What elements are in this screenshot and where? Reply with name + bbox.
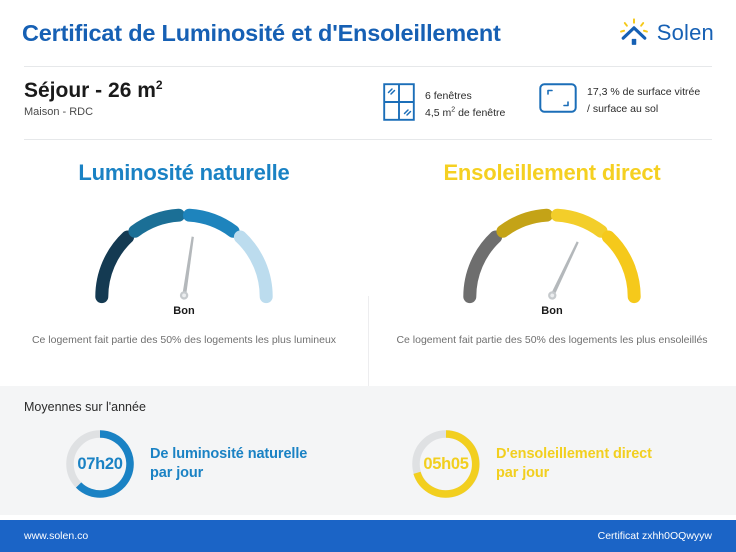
donut-ensoleillement-value: 05h05 xyxy=(410,428,482,500)
gauge-lum-needle xyxy=(179,236,196,300)
brand-name: Solen xyxy=(657,20,714,46)
averages-title: Moyennes sur l'année xyxy=(24,400,146,414)
window-grid-icon xyxy=(383,83,415,126)
gauge-lum-segment-3 xyxy=(189,215,233,231)
gauge-ens-needle xyxy=(547,240,581,301)
glazed-surface-icon xyxy=(539,83,577,118)
page-title: Certificat de Luminosité et d'Ensoleille… xyxy=(22,20,501,47)
gauge-lum-segment-4 xyxy=(240,237,266,297)
stat-windows-line2: 4,5 m2 de fenêtre xyxy=(425,105,505,121)
gauge-lum-segment-2 xyxy=(135,215,179,231)
page-header: Certificat de Luminosité et d'Ensoleille… xyxy=(0,0,736,66)
average-luminosite-label: De luminosité naturelle par jour xyxy=(150,445,307,483)
gauge-ensoleillement-rating: Bon xyxy=(368,305,736,317)
average-luminosite: 07h20 De luminosité naturelle par jour xyxy=(64,428,307,500)
panel-ensoleillement: Ensoleillement direct Bon xyxy=(368,140,736,380)
certificate-page: Certificat de Luminosité et d'Ensoleille… xyxy=(0,0,736,552)
panel-luminosite-heading: Luminosité naturelle xyxy=(0,160,368,186)
gauge-luminosite xyxy=(79,192,289,302)
stat-windows: 6 fenêtres 4,5 m2 de fenêtre xyxy=(383,83,505,126)
donut-ensoleillement: 05h05 xyxy=(410,428,482,500)
stat-windows-area-post: de fenêtre xyxy=(455,107,505,119)
panel-luminosite: Luminosité naturelle Bon xyxy=(0,140,368,380)
average-ensoleillement-label: D'ensoleillement direct par jour xyxy=(496,445,652,483)
stat-glazed-line1: 17,3 % de surface vitrée xyxy=(587,84,700,100)
sun-house-icon xyxy=(619,18,649,48)
gauge-lum-segment-1 xyxy=(102,237,128,297)
brand-logo: Solen xyxy=(619,18,714,48)
stat-glazed-line2: / surface au sol xyxy=(587,101,700,117)
donut-luminosite: 07h20 xyxy=(64,428,136,500)
room-title: Séjour - 26 m2 xyxy=(24,79,163,102)
average-luminosite-label-line1: De luminosité naturelle xyxy=(150,445,307,464)
room-title-superscript: 2 xyxy=(156,78,163,92)
stat-windows-line1: 6 fenêtres xyxy=(425,88,505,104)
average-ensoleillement-label-line2: par jour xyxy=(496,464,652,483)
donut-luminosite-value: 07h20 xyxy=(64,428,136,500)
page-footer: www.solen.co Certificat zxhh0OQwyyw xyxy=(0,520,736,552)
gauge-ens-segment-1 xyxy=(470,237,496,297)
gauge-ensoleillement-description: Ce logement fait partie des 50% des loge… xyxy=(392,332,712,348)
footer-certificate-id: Certificat zxhh0OQwyyw xyxy=(598,530,712,542)
gauge-luminosite-rating: Bon xyxy=(0,305,368,317)
footer-website[interactable]: www.solen.co xyxy=(24,530,88,542)
gauge-ens-segment-2 xyxy=(503,215,547,231)
averages-band: Moyennes sur l'année 07h20 De luminosité… xyxy=(0,386,736,515)
average-ensoleillement-label-line1: D'ensoleillement direct xyxy=(496,445,652,464)
gauge-luminosite-description: Ce logement fait partie des 50% des loge… xyxy=(24,332,344,348)
room-block: Séjour - 26 m2 Maison - RDC xyxy=(24,79,163,118)
room-title-text: Séjour - 26 m xyxy=(24,79,156,102)
stat-glazed-surface: 17,3 % de surface vitrée / surface au so… xyxy=(539,83,700,118)
average-ensoleillement: 05h05 D'ensoleillement direct par jour xyxy=(410,428,652,500)
stat-windows-text: 6 fenêtres 4,5 m2 de fenêtre xyxy=(425,88,505,121)
panel-ensoleillement-heading: Ensoleillement direct xyxy=(368,160,736,186)
average-luminosite-label-line2: par jour xyxy=(150,464,307,483)
room-info-row: Séjour - 26 m2 Maison - RDC 6 xyxy=(0,66,736,139)
stat-glazed-text: 17,3 % de surface vitrée / surface au so… xyxy=(587,84,700,117)
gauge-ensoleillement xyxy=(447,192,657,302)
gauge-ens-segment-4 xyxy=(608,237,634,297)
stat-windows-area: 4,5 m xyxy=(425,107,451,119)
gauge-panels: Luminosité naturelle Bon xyxy=(0,140,736,380)
gauge-ens-segment-3 xyxy=(557,215,601,231)
room-subtitle: Maison - RDC xyxy=(24,106,163,118)
